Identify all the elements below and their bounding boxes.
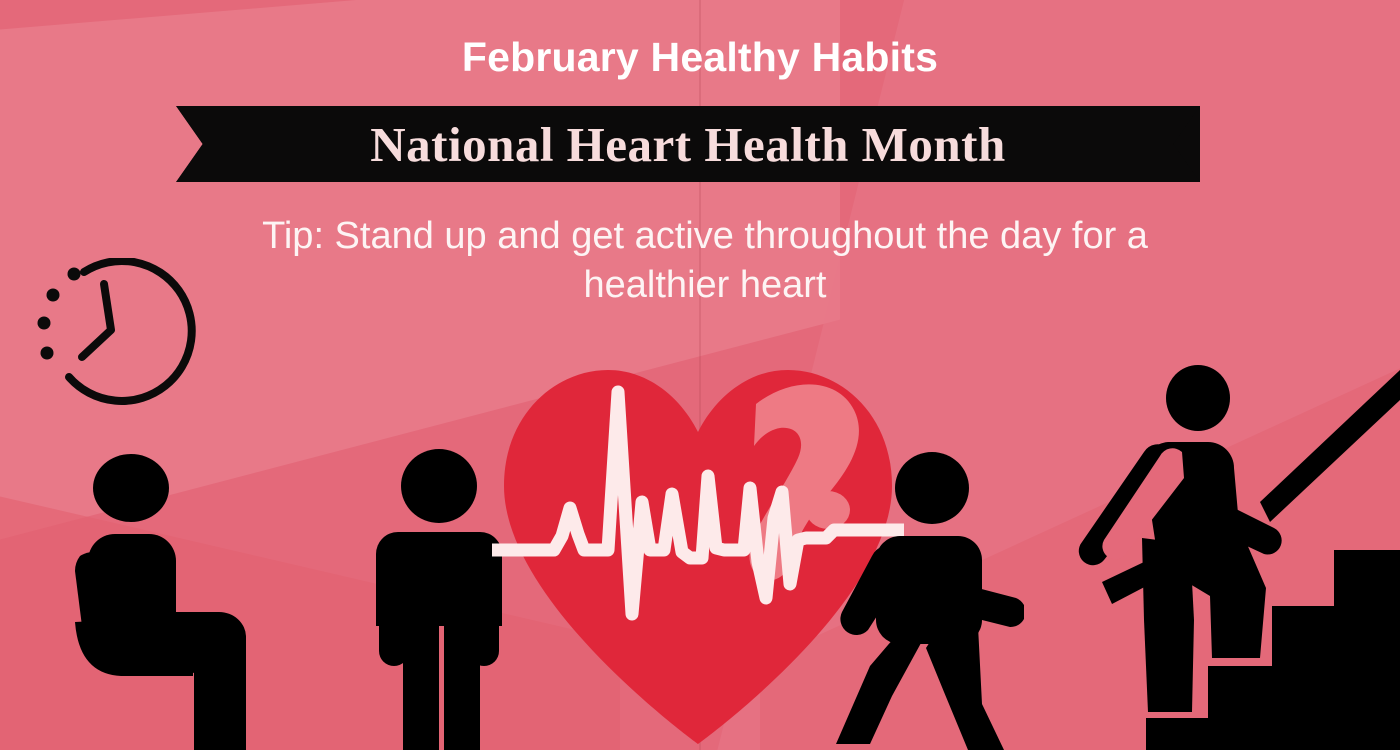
stair-climbing-person-icon: [1064, 356, 1400, 750]
walking-person-icon: [836, 448, 1024, 750]
clock-icon: [28, 258, 213, 418]
ribbon-inner: National Heart Health Month: [176, 106, 1200, 182]
page-title: February Healthy Habits: [0, 36, 1400, 79]
sitting-person-icon: [58, 452, 273, 750]
ribbon-banner: National Heart Health Month: [176, 106, 1200, 182]
handrail-icon: [1260, 370, 1400, 522]
ribbon-title: National Heart Health Month: [370, 116, 1005, 173]
tip-text: Tip: Stand up and get active throughout …: [190, 212, 1220, 309]
heart-health-poster: February Healthy Habits National Heart H…: [0, 0, 1400, 750]
